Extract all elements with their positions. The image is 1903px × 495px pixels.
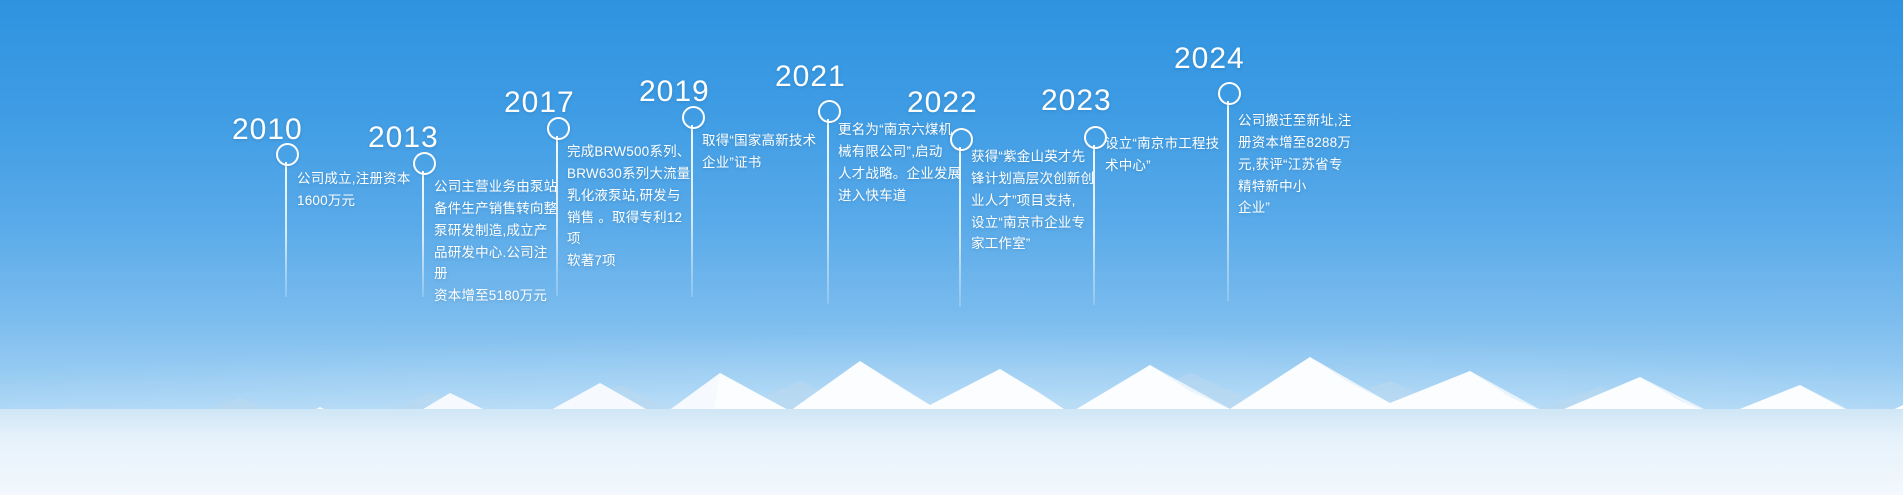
milestone-stem-line [1227, 101, 1229, 301]
milestone-year-label: 2022 [907, 88, 978, 118]
milestone-stem-line [827, 119, 829, 304]
milestone-dot-marker [1218, 82, 1241, 105]
milestone-dot-marker [547, 117, 570, 140]
milestone-year-label: 2024 [1174, 44, 1245, 74]
milestone-year-label: 2013 [368, 123, 439, 153]
milestone-year-label: 2017 [504, 88, 575, 118]
milestone-description: 取得“国家高新技术 企业”证书 [702, 130, 826, 174]
milestone-year-label: 2023 [1041, 86, 1112, 116]
milestone-description: 更名为“南京六煤机 械有限公司”,启动 人才战略。企业发展 进入快车道 [838, 119, 966, 206]
milestone-dot-marker [950, 128, 973, 151]
timeline-infographic: 2010公司成立,注册资本 1600万元2013公司主营业务由泵站 备件生产销售… [0, 0, 1903, 495]
timeline-track: 2010公司成立,注册资本 1600万元2013公司主营业务由泵站 备件生产销售… [0, 0, 1903, 495]
milestone-stem-line [285, 162, 287, 297]
milestone-dot-marker [276, 143, 299, 166]
milestone-description: 获得“紫金山英才先 锋计划高层次创新创 业人才”项目支持, 设立“南京市企业专 … [971, 146, 1099, 255]
milestone-year-label: 2021 [775, 62, 846, 92]
milestone-stem-line [1093, 145, 1095, 305]
milestone-year-label: 2019 [639, 77, 710, 107]
milestone-description: 公司搬迁至新址,注 册资本增至8288万 元,获评“江苏省专 精特新中小 企业” [1238, 110, 1366, 219]
milestone-description: 完成BRW500系列、 BRW630系列大流量 乳化液泵站,研发与 销售 。取得… [567, 141, 695, 272]
milestone-description: 公司主营业务由泵站 备件生产销售转向整 泵研发制造,成立产 品研发中心.公司注册… [434, 176, 558, 307]
milestone-description: 设立“南京市工程技 术中心” [1105, 133, 1229, 177]
milestone-stem-line [422, 171, 424, 297]
milestone-stem-line [556, 136, 558, 296]
milestone-stem-line [691, 125, 693, 297]
milestone-year-label: 2010 [232, 115, 303, 145]
milestone-stem-line [959, 147, 961, 307]
milestone-dot-marker [413, 152, 436, 175]
milestone-description: 公司成立,注册资本 1600万元 [297, 168, 419, 212]
milestone-dot-marker [682, 106, 705, 129]
milestone-dot-marker [1084, 126, 1107, 149]
